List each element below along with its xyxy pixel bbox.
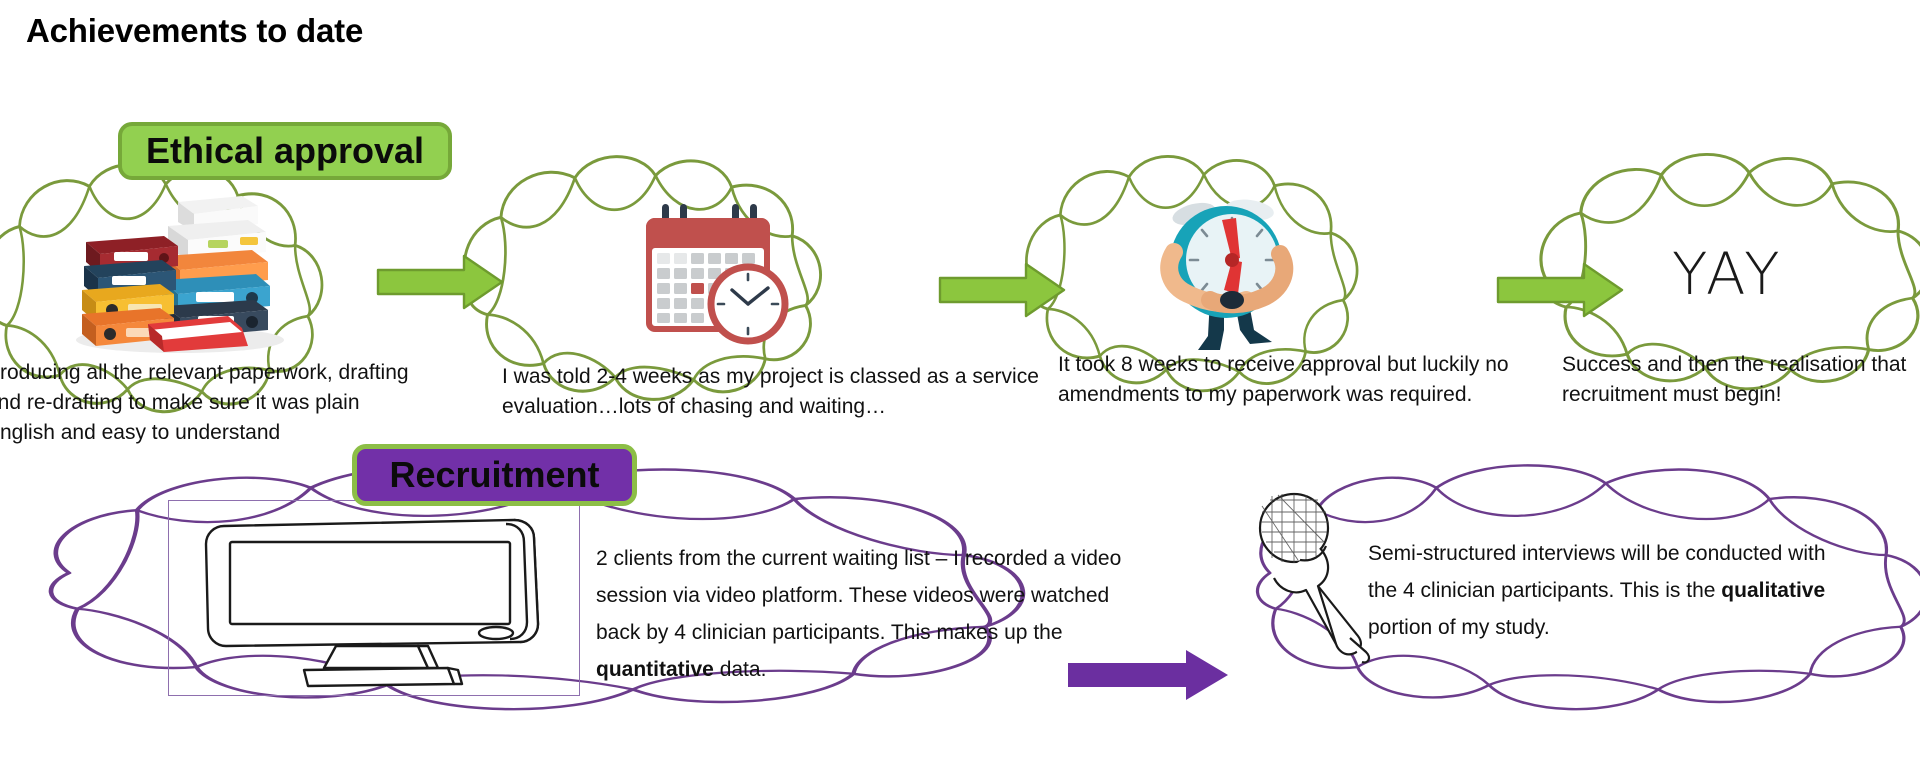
yay-headline: YAY	[1672, 240, 1783, 308]
badge-recruitment[interactable]: Recruitment	[352, 444, 637, 506]
text-quantitative: 2 clients from the current waiting list …	[596, 540, 1156, 688]
arrow-step1-to-step2	[378, 256, 502, 308]
caption-approval: It took 8 weeks to receive approval but …	[1058, 350, 1528, 410]
stack-of-binders-icon	[52, 180, 292, 360]
arrow-step3-to-step4	[1498, 264, 1622, 316]
computer-monitor-icon	[196, 512, 566, 692]
alarm-clock-character-icon	[1128, 180, 1324, 360]
slide-canvas: Achievements to date	[0, 0, 1920, 775]
badge-ethical-approval[interactable]: Ethical approval	[118, 122, 452, 180]
text-qualitative: Semi-structured interviews will be condu…	[1368, 535, 1838, 646]
caption-waiting: I was told 2-4 weeks as my project is cl…	[502, 362, 1072, 422]
caption-success: Success and then the realisation that re…	[1562, 350, 1920, 410]
page-title: Achievements to date	[26, 12, 363, 50]
arrow-step2-to-step3	[940, 264, 1064, 316]
calendar-clock-icon	[632, 196, 812, 358]
caption-paperwork: Producing all the relevant paperwork, dr…	[0, 358, 416, 448]
